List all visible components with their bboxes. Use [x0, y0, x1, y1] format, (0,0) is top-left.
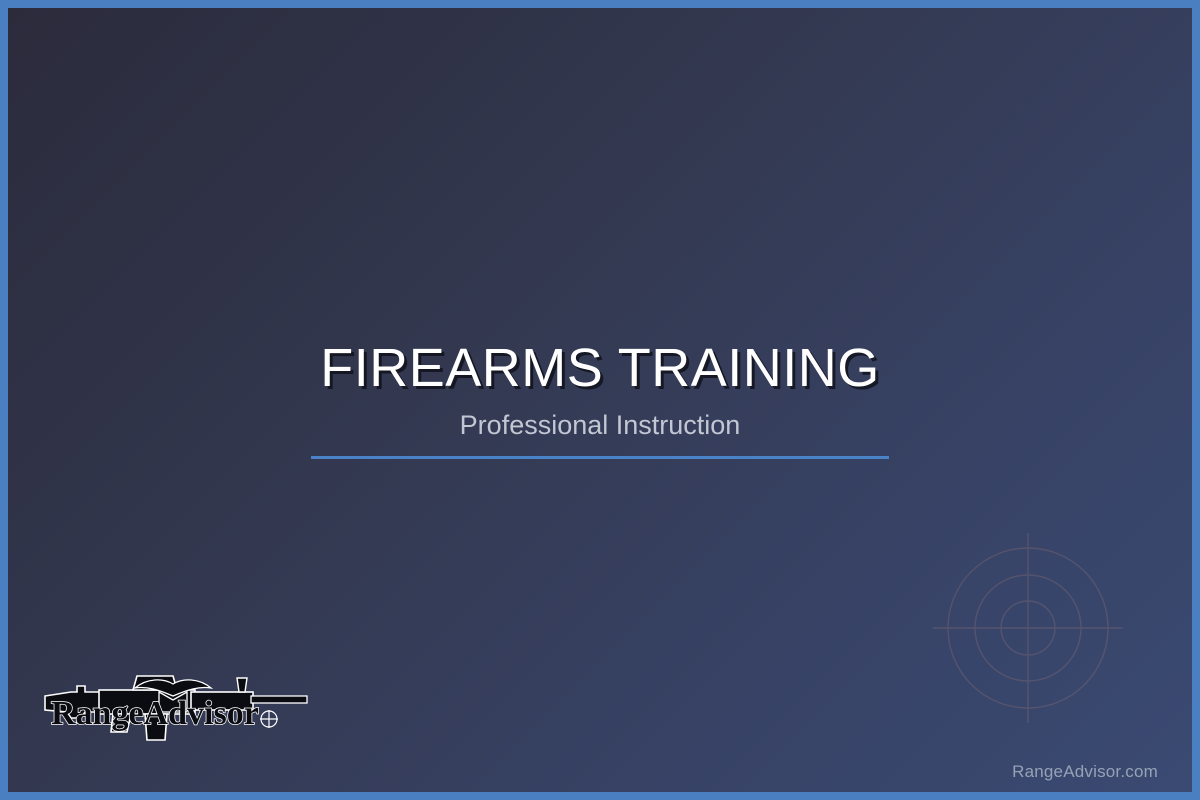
footer-url: RangeAdvisor.com [1012, 762, 1158, 782]
target-crosshair-icon [933, 533, 1123, 723]
presentation-slide: FIREARMS TRAINING Professional Instructi… [0, 0, 1200, 800]
slide-canvas: FIREARMS TRAINING Professional Instructi… [8, 8, 1192, 792]
title-block: FIREARMS TRAINING Professional Instructi… [8, 340, 1192, 459]
brand-logo: RangeAdvisor [41, 666, 311, 744]
accent-divider [311, 456, 889, 459]
page-subtitle: Professional Instruction [8, 411, 1192, 441]
brand-wordmark: RangeAdvisor [51, 695, 259, 732]
page-title: FIREARMS TRAINING [8, 340, 1192, 397]
